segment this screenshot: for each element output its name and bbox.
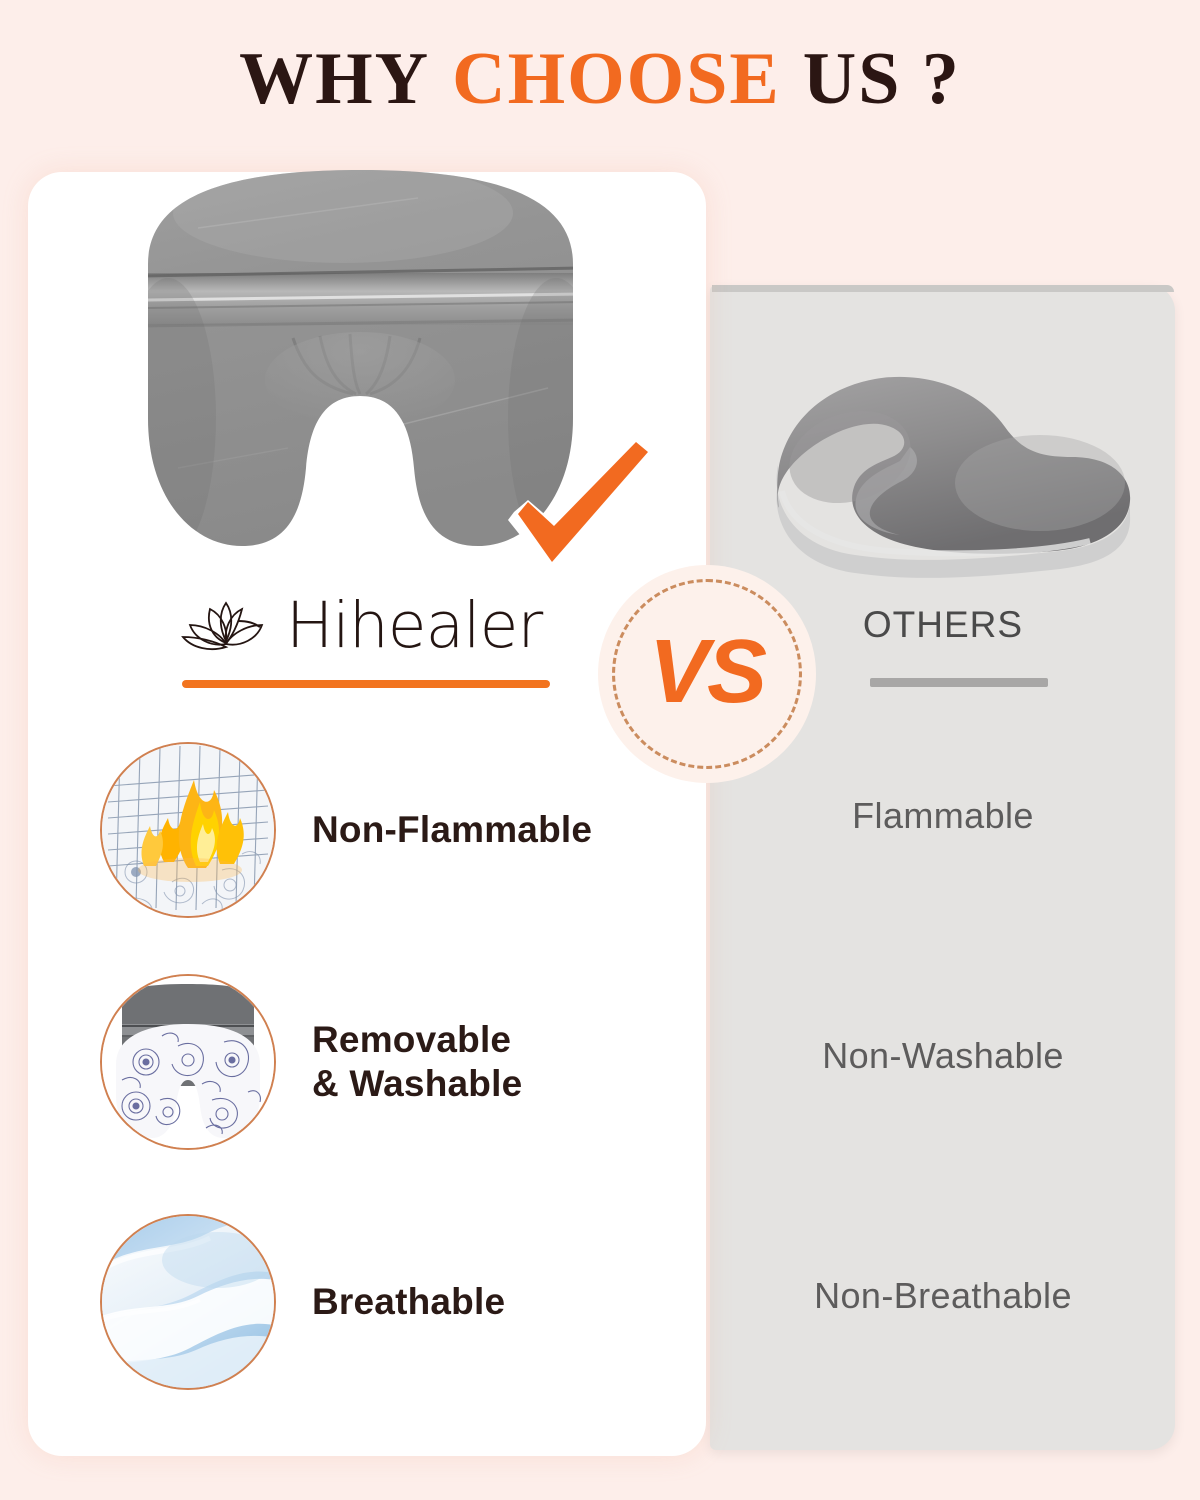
page-title-part3: US ? — [803, 42, 961, 116]
flame-on-fabric-icon — [100, 742, 276, 918]
others-panel-top-accent — [712, 285, 1174, 292]
feature-label-non-flammable: Non-Flammable — [312, 808, 592, 852]
page-title-part2: CHOOSE — [452, 42, 781, 116]
blue-soft-fabric-icon — [100, 1214, 276, 1390]
others-item-non-washable: Non-Washable — [712, 1035, 1174, 1077]
vs-badge: VS — [598, 565, 816, 783]
feature-row-non-flammable: Non-Flammable — [100, 740, 660, 920]
brand-logo: Hihealer — [180, 592, 560, 664]
feature-row-removable-washable: Removable & Washable — [100, 972, 660, 1152]
checkmark-icon — [498, 438, 658, 578]
paisley-pillow-cover-icon — [100, 974, 276, 1150]
feature-label-breathable: Breathable — [312, 1280, 505, 1324]
brand-name: Hihealer — [286, 594, 542, 657]
brand-underline — [182, 680, 550, 688]
page-title: WHY CHOOSE US ? — [0, 42, 1200, 116]
others-item-flammable: Flammable — [712, 795, 1174, 837]
others-product-image — [760, 365, 1140, 595]
feature-row-breathable: Breathable — [100, 1212, 660, 1392]
vs-label: VS — [598, 563, 816, 781]
feature-label-line1: Removable — [312, 1019, 511, 1060]
lotus-icon — [180, 597, 276, 659]
feature-label-line2: & Washable — [312, 1063, 522, 1104]
feature-label-removable-washable: Removable & Washable — [312, 1018, 522, 1105]
poster-stage: WHY CHOOSE US ? — [0, 0, 1200, 1500]
others-underline — [870, 678, 1048, 687]
page-title-part1: WHY — [239, 42, 430, 116]
others-item-non-breathable: Non-Breathable — [712, 1275, 1174, 1317]
